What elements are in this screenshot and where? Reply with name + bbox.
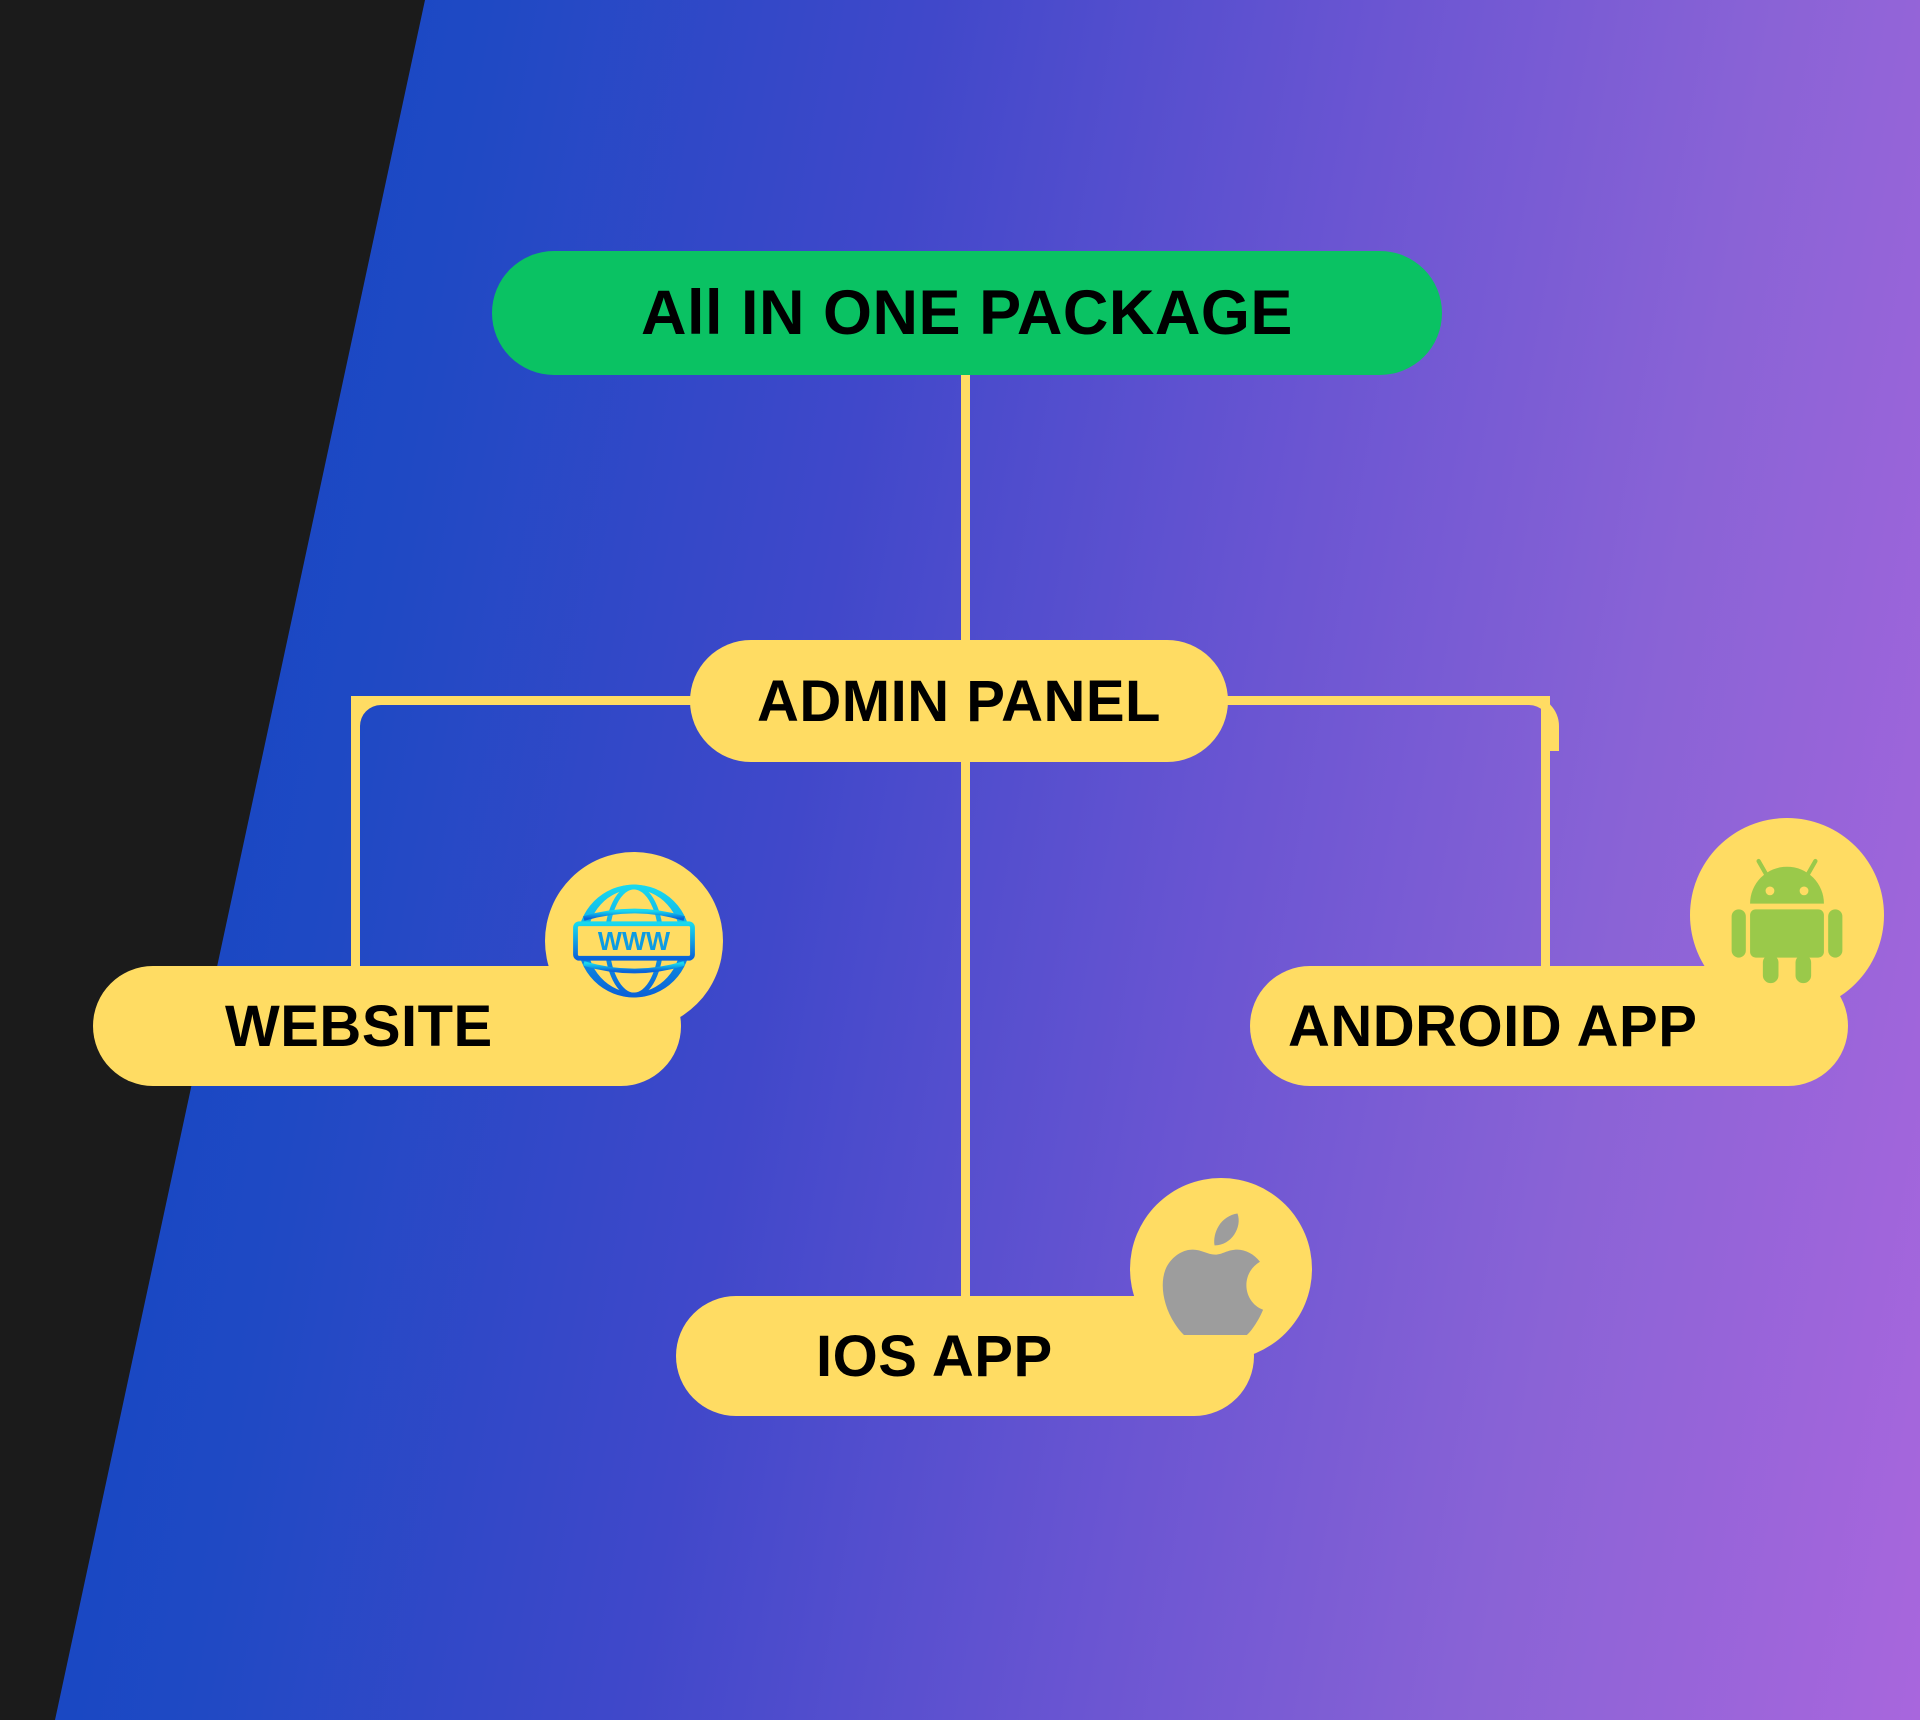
node-label-all-in-one-package: All IN ONE PACKAGE (641, 277, 1293, 349)
node-label-ios-app: IOS APP (816, 1323, 1053, 1390)
connector-admin-to-ios (961, 700, 970, 1300)
globe-www-text: WWW (598, 928, 671, 956)
node-label-admin-panel: ADMIN PANEL (757, 668, 1161, 735)
android-robot-icon (1690, 818, 1884, 1012)
globe-www-icon: WWW (545, 852, 723, 1030)
diagram-canvas: All IN ONE PACKAGE ADMIN PANEL WEBSITE A… (0, 0, 1920, 1720)
apple-logo-icon (1130, 1178, 1312, 1360)
node-all-in-one-package[interactable]: All IN ONE PACKAGE (492, 251, 1442, 375)
connector-corner-left (351, 696, 406, 751)
node-admin-panel[interactable]: ADMIN PANEL (690, 640, 1228, 762)
node-label-android-app: ANDROID APP (1288, 993, 1697, 1060)
node-label-website: WEBSITE (225, 993, 493, 1060)
